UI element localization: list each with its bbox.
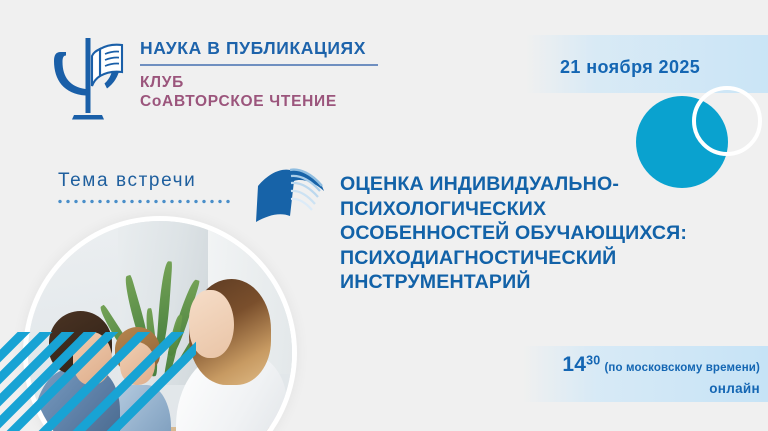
photo-child-2-face	[120, 342, 154, 384]
photo-child-1-face	[73, 332, 113, 385]
title-line-1: ОЦЕНКА ИНДИВИДУАЛЬНО-	[340, 172, 760, 197]
event-timezone-note: (по московскому времени)	[604, 362, 760, 374]
title-line-5: ИНСТРУМЕНТАРИЙ	[340, 270, 760, 295]
brand-logo: НАУКА В ПУБЛИКАЦИЯХ КЛУБ СоАВТОРСКОЕ ЧТЕ…	[44, 30, 378, 122]
speaker-photo	[28, 221, 292, 431]
event-time-row: 1430(по московскому времени)	[500, 353, 760, 377]
webinar-announcement-poster: НАУКА В ПУБЛИКАЦИЯХ КЛУБ СоАВТОРСКОЕ ЧТЕ…	[0, 0, 768, 431]
event-date: 21 ноября 2025	[560, 57, 700, 78]
title-line-3: ОСОБЕННОСТЕЙ ОБУЧАЮЩИХСЯ:	[340, 221, 760, 246]
title-line-4: ПСИХОДИАГНОСТИЧЕСКИЙ	[340, 246, 760, 271]
event-format: онлайн	[500, 381, 760, 396]
event-time-block: 1430(по московскому времени) онлайн	[500, 353, 760, 396]
title-line-2: ПСИХОЛОГИЧЕСКИХ	[340, 197, 760, 222]
page-title: ОЦЕНКА ИНДИВИДУАЛЬНО- ПСИХОЛОГИЧЕСКИХ ОС…	[340, 172, 760, 295]
brand-logo-text: НАУКА В ПУБЛИКАЦИЯХ КЛУБ СоАВТОРСКОЕ ЧТЕ…	[140, 30, 378, 112]
psi-with-open-book-icon	[44, 32, 130, 122]
topic-label: Тема встречи	[58, 170, 196, 192]
brand-title: НАУКА В ПУБЛИКАЦИЯХ	[140, 40, 378, 58]
photo-illustration	[28, 221, 292, 431]
brand-subtitle-name: СоАВТОРСКОЕ ЧТЕНИЕ	[140, 92, 378, 112]
photo-adult-face	[189, 290, 234, 359]
brand-divider	[140, 64, 378, 66]
open-book-icon	[250, 158, 330, 230]
event-time-hour: 14	[562, 353, 586, 376]
brand-subtitle-club: КЛУБ	[140, 73, 378, 93]
dotted-underline-icon	[56, 199, 230, 204]
event-time-minutes: 30	[586, 354, 600, 368]
white-outline-circle-icon	[692, 86, 762, 156]
